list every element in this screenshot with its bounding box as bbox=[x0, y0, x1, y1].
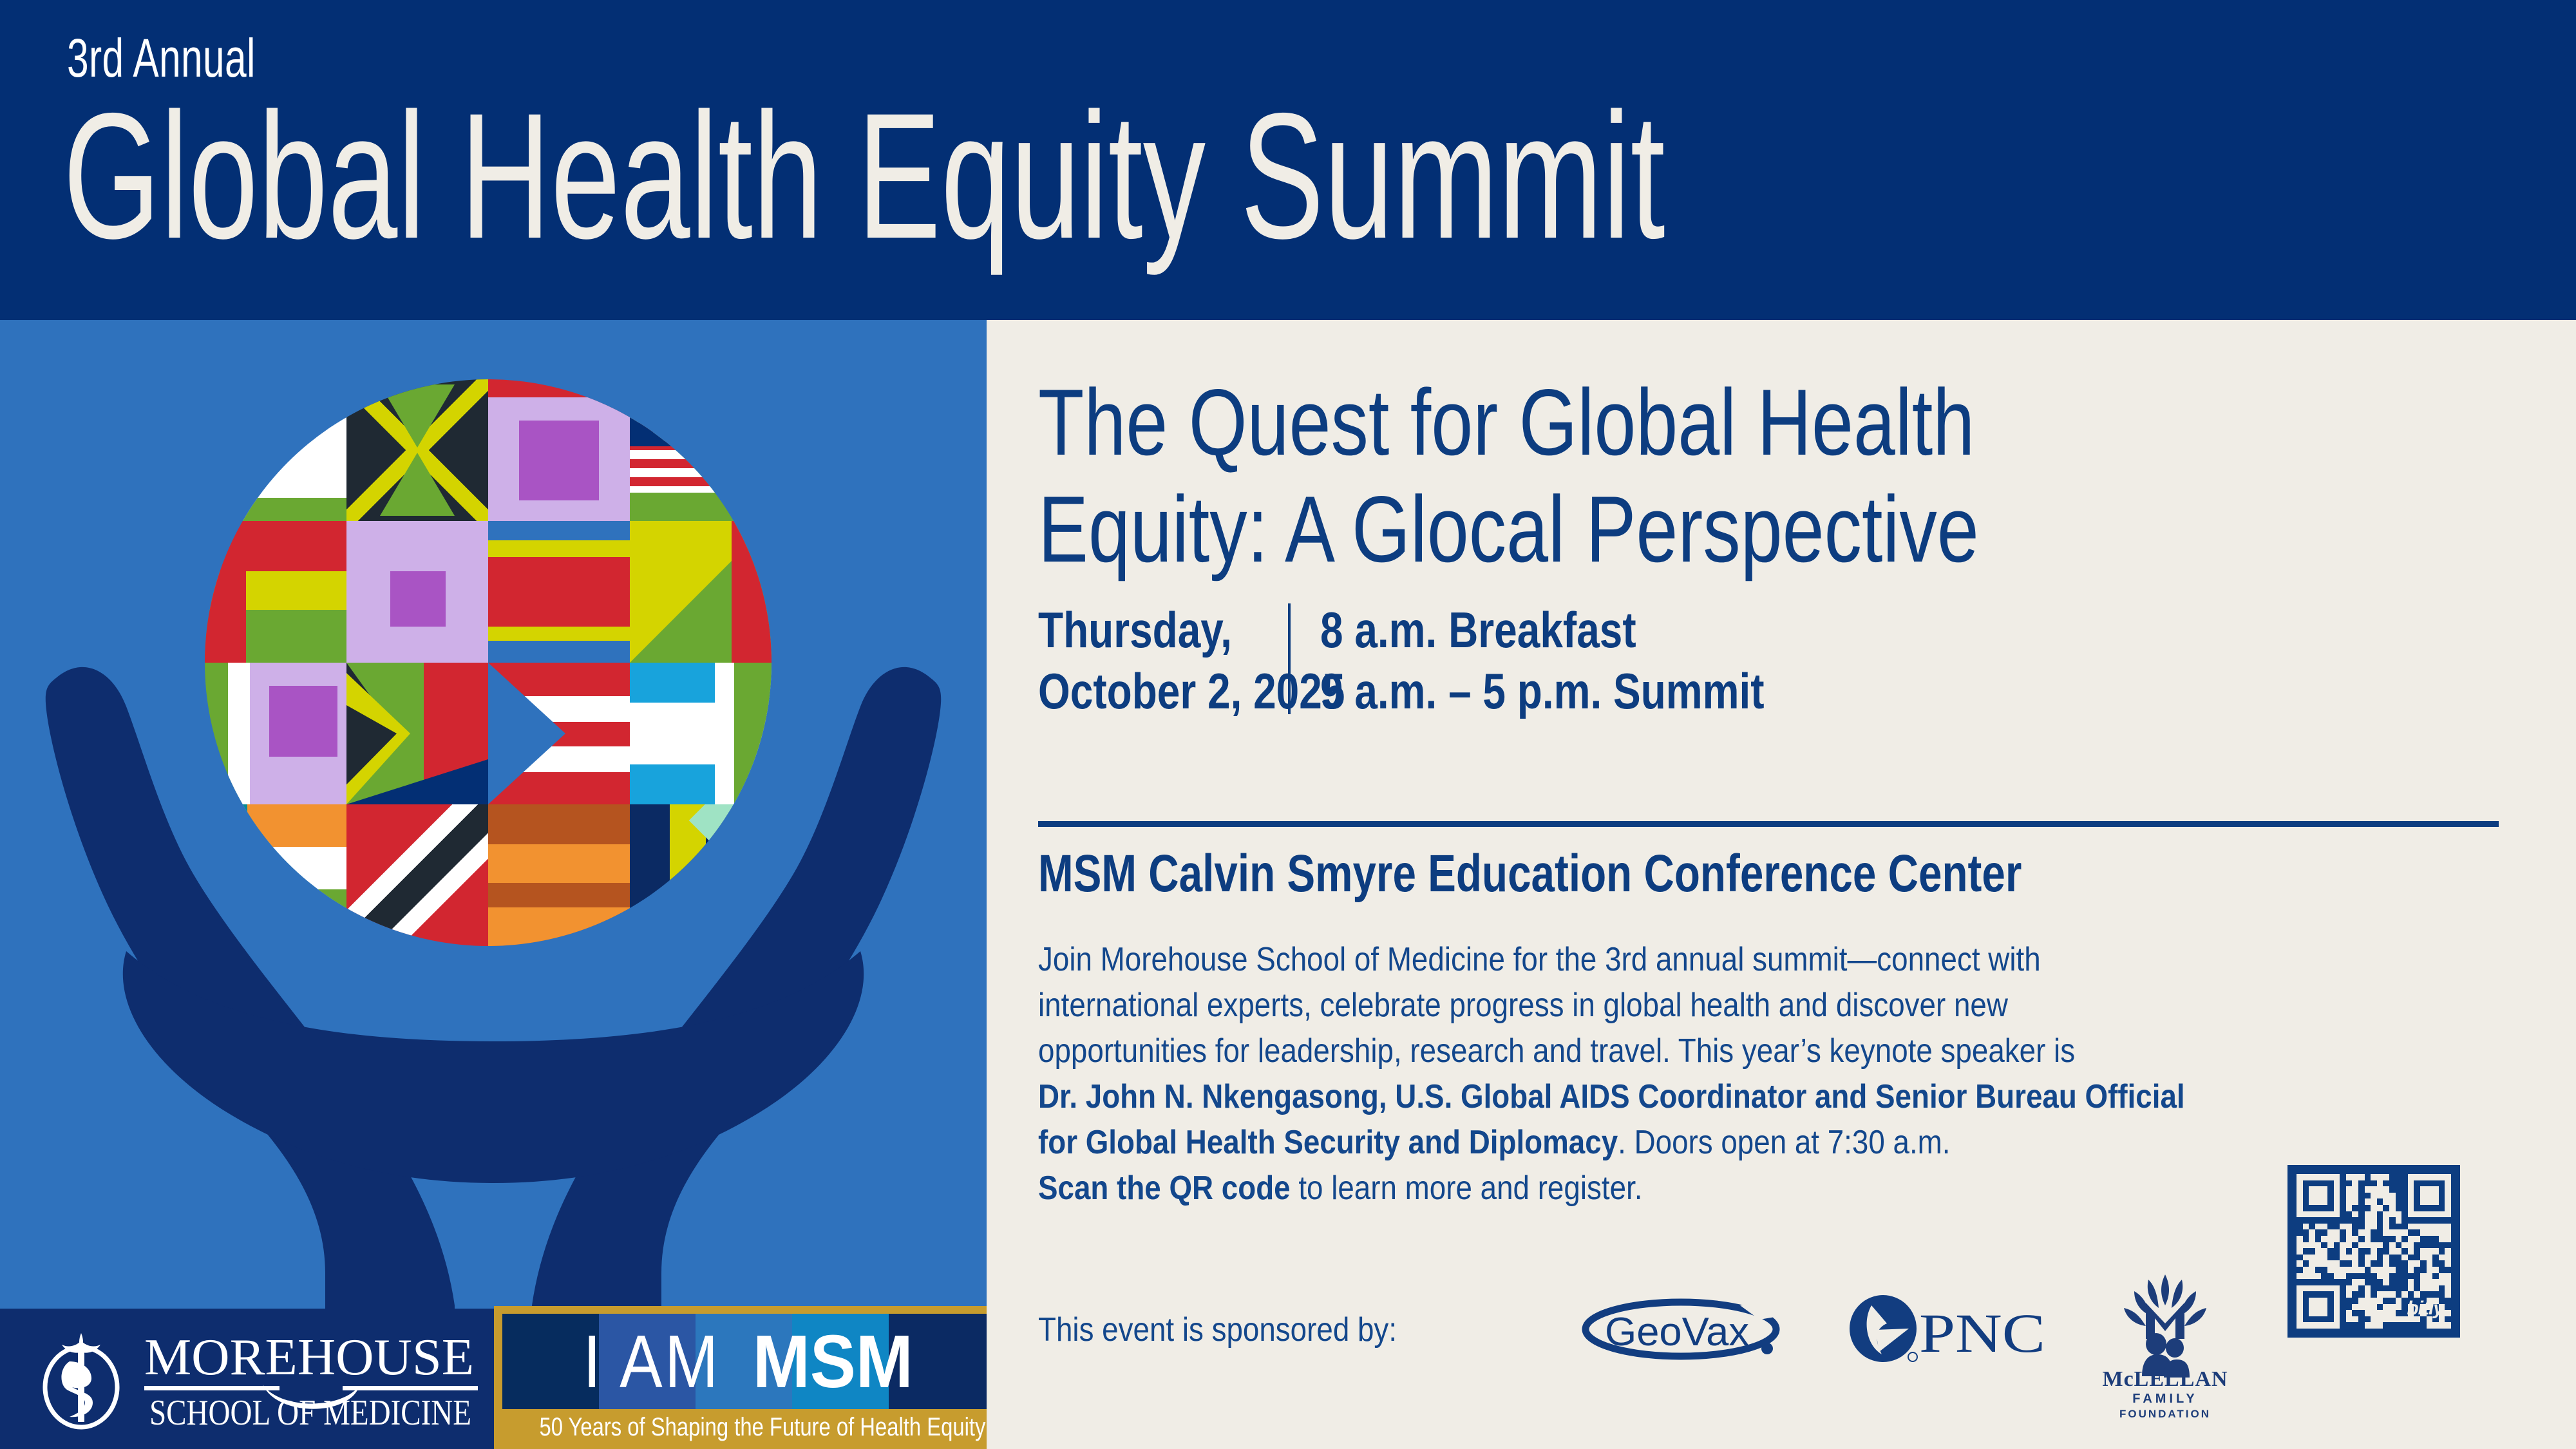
qr-module bbox=[2315, 1217, 2322, 1224]
qr-module bbox=[2365, 1211, 2371, 1218]
qr-module bbox=[2321, 1255, 2327, 1261]
qr-module bbox=[2334, 1217, 2340, 1224]
qr-module bbox=[2309, 1205, 2315, 1211]
morehouse-line2: SCHOOL OF MEDICINE bbox=[149, 1393, 471, 1431]
body-line-3: opportunities for leadership, research a… bbox=[1038, 1028, 2273, 1074]
qr-module bbox=[2396, 1193, 2402, 1199]
qr-module bbox=[2327, 1255, 2334, 1261]
qr-module bbox=[2297, 1236, 2303, 1242]
pnc-wordmark: PNC bbox=[1919, 1302, 2045, 1364]
morehouse-wordmark: MOREHOUSE SCHOOL OF MEDICINE bbox=[143, 1327, 478, 1431]
main-title-line1: The Quest for Global Health bbox=[1038, 370, 1975, 475]
qr-module bbox=[2346, 1255, 2353, 1261]
qr-module bbox=[2352, 1255, 2358, 1261]
qr-module bbox=[2383, 1205, 2389, 1211]
keynote-title: for Global Health Security and Diplomacy bbox=[1038, 1124, 1618, 1161]
qr-module bbox=[2408, 1255, 2414, 1261]
qr-module bbox=[2346, 1236, 2353, 1242]
qr-module bbox=[2401, 1198, 2408, 1205]
qr-module bbox=[2383, 1193, 2389, 1199]
qr-module bbox=[2389, 1236, 2396, 1242]
description-body: Join Morehouse School of Medicine for th… bbox=[1038, 937, 2442, 1211]
qr-module bbox=[2297, 1248, 2303, 1255]
qr-module bbox=[2340, 1260, 2346, 1267]
qr-module bbox=[2432, 1174, 2439, 1180]
flag-tile bbox=[630, 379, 772, 521]
date-line2: October 2, 2025 bbox=[1038, 661, 1286, 722]
qr-module bbox=[2315, 1242, 2322, 1249]
qr-module bbox=[2432, 1224, 2439, 1230]
flag-tile bbox=[346, 379, 488, 521]
qr-module bbox=[2321, 1260, 2327, 1267]
vertical-divider bbox=[1288, 603, 1291, 714]
qr-module bbox=[2340, 1224, 2346, 1230]
morehouse-logo: MOREHOUSE SCHOOL OF MEDICINE bbox=[0, 1309, 494, 1449]
qr-module bbox=[2401, 1242, 2408, 1249]
qr-module bbox=[2327, 1248, 2334, 1255]
qr-module bbox=[2340, 1211, 2346, 1218]
qr-module bbox=[2352, 1198, 2358, 1205]
qr-module bbox=[2334, 1211, 2340, 1218]
qr-module bbox=[2334, 1248, 2340, 1255]
qr-module bbox=[2401, 1255, 2408, 1261]
qr-module bbox=[2383, 1224, 2389, 1230]
qr-module bbox=[2383, 1174, 2389, 1180]
qr-module bbox=[2401, 1186, 2408, 1193]
qr-module bbox=[2340, 1236, 2346, 1242]
qr-module bbox=[2377, 1211, 2383, 1218]
qr-module bbox=[2432, 1229, 2439, 1236]
qr-module bbox=[2383, 1260, 2389, 1267]
qr-module bbox=[2309, 1224, 2315, 1230]
qr-module bbox=[2315, 1180, 2322, 1187]
mclellan-line1: McLELLAN bbox=[2101, 1368, 2230, 1390]
qr-module bbox=[2389, 1193, 2396, 1199]
qr-module bbox=[2327, 1180, 2334, 1187]
qr-module bbox=[2352, 1242, 2358, 1249]
qr-module bbox=[2346, 1186, 2353, 1193]
qr-module bbox=[2365, 1260, 2371, 1267]
qr-module bbox=[2340, 1205, 2346, 1211]
qr-module bbox=[2383, 1229, 2389, 1236]
body-line-1: Join Morehouse School of Medicine for th… bbox=[1038, 937, 2273, 983]
qr-module bbox=[2346, 1205, 2353, 1211]
qr-module bbox=[2432, 1198, 2439, 1205]
qr-module bbox=[2420, 1260, 2427, 1267]
qr-module bbox=[2352, 1248, 2358, 1255]
qr-module bbox=[2315, 1248, 2322, 1255]
qr-module bbox=[2365, 1255, 2371, 1261]
qr-module bbox=[2396, 1198, 2402, 1205]
qr-module bbox=[2309, 1174, 2315, 1180]
qr-module bbox=[2371, 1242, 2377, 1249]
qr-module bbox=[2389, 1260, 2396, 1267]
artwork-panel bbox=[0, 320, 987, 1449]
qr-module bbox=[2432, 1236, 2439, 1242]
qr-module bbox=[2383, 1242, 2389, 1249]
body-line-5: for Global Health Security and Diplomacy… bbox=[1038, 1120, 2273, 1166]
qr-module bbox=[2346, 1198, 2353, 1205]
qr-module bbox=[2365, 1229, 2371, 1236]
qr-module bbox=[2389, 1186, 2396, 1193]
flag-tile bbox=[630, 804, 772, 946]
qr-module bbox=[2371, 1193, 2377, 1199]
qr-module bbox=[2334, 1255, 2340, 1261]
qr-module bbox=[2439, 1174, 2445, 1180]
content-panel: The Quest for Global Health Equity: A Gl… bbox=[987, 320, 2576, 1449]
qr-module bbox=[2396, 1217, 2402, 1224]
qr-module bbox=[2439, 1248, 2445, 1255]
qr-module bbox=[2358, 1236, 2365, 1242]
qr-module bbox=[2389, 1248, 2396, 1255]
qr-module bbox=[2365, 1224, 2371, 1230]
qr-module bbox=[2432, 1193, 2439, 1199]
qr-module bbox=[2315, 1224, 2322, 1230]
qr-module bbox=[2358, 1211, 2365, 1218]
qr-module bbox=[2309, 1180, 2315, 1187]
qr-module bbox=[2389, 1198, 2396, 1205]
qr-module bbox=[2383, 1211, 2389, 1218]
qr-module bbox=[2401, 1260, 2408, 1267]
time-line2: 9 a.m. – 5 p.m. Summit bbox=[1320, 661, 1765, 722]
qr-module bbox=[2309, 1186, 2315, 1193]
qr-module bbox=[2414, 1217, 2420, 1224]
qr-module bbox=[2358, 1242, 2365, 1249]
qr-module bbox=[2439, 1193, 2445, 1199]
qr-module bbox=[2327, 1260, 2334, 1267]
qr-module bbox=[2371, 1236, 2377, 1242]
qr-module bbox=[2297, 1180, 2303, 1187]
geovax-logo: GeoVax bbox=[1579, 1294, 1785, 1365]
qr-module bbox=[2420, 1229, 2427, 1236]
qr-module bbox=[2445, 1193, 2451, 1199]
qr-module bbox=[2396, 1260, 2402, 1267]
qr-module bbox=[2303, 1260, 2309, 1267]
qr-module bbox=[2401, 1174, 2408, 1180]
iam-bold: MSM bbox=[753, 1324, 913, 1399]
qr-module bbox=[2432, 1186, 2439, 1193]
flag-tile bbox=[205, 663, 346, 804]
qr-module bbox=[2377, 1224, 2383, 1230]
qr-module bbox=[2420, 1186, 2427, 1193]
qr-module bbox=[2303, 1242, 2309, 1249]
qr-module bbox=[2365, 1198, 2371, 1205]
qr-module bbox=[2303, 1205, 2309, 1211]
qr-module bbox=[2321, 1224, 2327, 1230]
qr-module bbox=[2358, 1255, 2365, 1261]
flag-globe bbox=[205, 379, 772, 946]
qr-module bbox=[2432, 1180, 2439, 1187]
qr-module bbox=[2383, 1255, 2389, 1261]
qr-module bbox=[2371, 1260, 2377, 1267]
qr-module bbox=[2303, 1236, 2309, 1242]
qr-module bbox=[2327, 1242, 2334, 1249]
qr-module bbox=[2439, 1229, 2445, 1236]
qr-module bbox=[2346, 1260, 2353, 1267]
qr-module bbox=[2414, 1193, 2420, 1199]
qr-module bbox=[2377, 1236, 2383, 1242]
qr-module bbox=[2340, 1180, 2346, 1187]
qr-module bbox=[2377, 1255, 2383, 1261]
qr-module bbox=[2315, 1255, 2322, 1261]
qr-module bbox=[2365, 1248, 2371, 1255]
keynote-name: Dr. John N. Nkengasong, U.S. Global AIDS… bbox=[1038, 1078, 2185, 1115]
qr-module bbox=[2327, 1224, 2334, 1230]
qr-module bbox=[2315, 1236, 2322, 1242]
qr-module bbox=[2309, 1193, 2315, 1199]
qr-module bbox=[2309, 1211, 2315, 1218]
qr-module bbox=[2414, 1242, 2420, 1249]
qr-module bbox=[2439, 1224, 2445, 1230]
qr-module bbox=[2408, 1180, 2414, 1187]
qr-module bbox=[2371, 1174, 2377, 1180]
flag-tile bbox=[205, 521, 346, 663]
qr-module bbox=[2346, 1193, 2353, 1199]
qr-module bbox=[2371, 1186, 2377, 1193]
qr-module bbox=[2346, 1224, 2353, 1230]
qr-module bbox=[2396, 1224, 2402, 1230]
qr-module bbox=[2346, 1242, 2353, 1249]
time-line1: 8 a.m. Breakfast bbox=[1320, 600, 1765, 661]
qr-module bbox=[2371, 1205, 2377, 1211]
iam-tagline: 50 Years of Shaping the Future of Health… bbox=[539, 1413, 952, 1441]
qr-module bbox=[2321, 1174, 2327, 1180]
iam-msm-logo: I AM MSM 50 Years of Shaping the Future … bbox=[494, 1306, 998, 1449]
qr-module bbox=[2427, 1180, 2433, 1187]
caduceus-icon bbox=[30, 1328, 133, 1430]
qr-module bbox=[2401, 1211, 2408, 1218]
qr-module bbox=[2334, 1236, 2340, 1242]
event-times: 8 a.m. Breakfast 9 a.m. – 5 p.m. Summit bbox=[1320, 600, 1765, 722]
qr-module bbox=[2352, 1217, 2358, 1224]
qr-module bbox=[2401, 1236, 2408, 1242]
qr-module bbox=[2432, 1242, 2439, 1249]
qr-module bbox=[2297, 1193, 2303, 1199]
qr-module bbox=[2365, 1205, 2371, 1211]
venue-name: MSM Calvin Smyre Education Conference Ce… bbox=[1038, 843, 2022, 905]
horizontal-rule bbox=[1038, 821, 2499, 827]
qr-module bbox=[2303, 1211, 2309, 1218]
qr-module bbox=[2309, 1248, 2315, 1255]
qr-module bbox=[2389, 1229, 2396, 1236]
qr-module bbox=[2427, 1248, 2433, 1255]
qr-module bbox=[2420, 1224, 2427, 1230]
qr-module bbox=[2358, 1248, 2365, 1255]
flag-tile bbox=[630, 663, 772, 804]
qr-module bbox=[2401, 1193, 2408, 1199]
body-line-6: Scan the QR code to learn more and regis… bbox=[1038, 1166, 2273, 1211]
qr-module bbox=[2396, 1242, 2402, 1249]
qr-module bbox=[2346, 1180, 2353, 1187]
qr-module bbox=[2371, 1180, 2377, 1187]
main-title: The Quest for Global Health Equity: A Gl… bbox=[1038, 369, 2244, 583]
qr-module bbox=[2414, 1205, 2420, 1211]
qr-module bbox=[2377, 1248, 2383, 1255]
sponsors-label: This event is sponsored by: bbox=[1038, 1311, 1397, 1349]
qr-module bbox=[2297, 1255, 2303, 1261]
qr-module bbox=[2365, 1236, 2371, 1242]
qr-module bbox=[2297, 1198, 2303, 1205]
qr-module bbox=[2321, 1242, 2327, 1249]
qr-module bbox=[2327, 1217, 2334, 1224]
qr-module bbox=[2420, 1248, 2427, 1255]
qr-module bbox=[2389, 1242, 2396, 1249]
qr-module bbox=[2340, 1242, 2346, 1249]
qr-module bbox=[2346, 1211, 2353, 1218]
qr-module bbox=[2445, 1205, 2451, 1211]
qr-module bbox=[2377, 1198, 2383, 1205]
qr-module bbox=[2414, 1174, 2420, 1180]
qr-module bbox=[2389, 1224, 2396, 1230]
qr-module bbox=[2297, 1229, 2303, 1236]
qr-module bbox=[2303, 1186, 2309, 1193]
qr-module bbox=[2420, 1217, 2427, 1224]
qr-module bbox=[2408, 1174, 2414, 1180]
qr-module bbox=[2321, 1211, 2327, 1218]
qr-module bbox=[2408, 1211, 2414, 1218]
qr-module bbox=[2309, 1260, 2315, 1267]
qr-module bbox=[2408, 1260, 2414, 1267]
qr-module bbox=[2365, 1186, 2371, 1193]
qr-module bbox=[2414, 1248, 2420, 1255]
qr-module bbox=[2309, 1242, 2315, 1249]
qr-module bbox=[2358, 1186, 2365, 1193]
qr-module bbox=[2327, 1236, 2334, 1242]
qr-module bbox=[2439, 1186, 2445, 1193]
qr-module bbox=[2408, 1217, 2414, 1224]
qr-module bbox=[2445, 1186, 2451, 1193]
qr-module bbox=[2371, 1248, 2377, 1255]
qr-module bbox=[2396, 1229, 2402, 1236]
qr-module bbox=[2401, 1217, 2408, 1224]
qr-module bbox=[2352, 1236, 2358, 1242]
qr-module bbox=[2401, 1224, 2408, 1230]
qr-module bbox=[2432, 1260, 2439, 1267]
qr-module bbox=[2432, 1217, 2439, 1224]
qr-module bbox=[2396, 1205, 2402, 1211]
qr-module bbox=[2346, 1248, 2353, 1255]
qr-module bbox=[2340, 1229, 2346, 1236]
flag-tile bbox=[346, 804, 488, 946]
qr-module bbox=[2432, 1205, 2439, 1211]
qr-module bbox=[2321, 1229, 2327, 1236]
qr-module bbox=[2327, 1174, 2334, 1180]
iam-thin: I AM bbox=[583, 1324, 721, 1399]
qr-module bbox=[2346, 1217, 2353, 1224]
qr-module bbox=[2340, 1174, 2346, 1180]
date-line1: Thursday, bbox=[1038, 600, 1286, 661]
qr-module bbox=[2414, 1255, 2420, 1261]
qr-module bbox=[2445, 1242, 2451, 1249]
qr-module bbox=[2414, 1236, 2420, 1242]
scan-qr-label: Scan the QR code bbox=[1038, 1170, 1291, 1207]
qr-module bbox=[2334, 1180, 2340, 1187]
pnc-logo: PNC bbox=[1850, 1293, 2049, 1365]
qr-module bbox=[2358, 1224, 2365, 1230]
qr-module bbox=[2445, 1224, 2451, 1230]
qr-module bbox=[2445, 1174, 2451, 1180]
qr-module bbox=[2371, 1229, 2377, 1236]
qr-module bbox=[2352, 1193, 2358, 1199]
qr-module bbox=[2352, 1174, 2358, 1180]
qr-module bbox=[2439, 1242, 2445, 1249]
qr-module bbox=[2389, 1205, 2396, 1211]
qr-module bbox=[2315, 1198, 2322, 1205]
qr-module bbox=[2327, 1193, 2334, 1199]
qr-module bbox=[2303, 1255, 2309, 1261]
register-text: to learn more and register. bbox=[1291, 1170, 1643, 1207]
qr-module bbox=[2297, 1224, 2303, 1230]
qr-module bbox=[2383, 1248, 2389, 1255]
qr-module bbox=[2377, 1229, 2383, 1236]
qr-module bbox=[2377, 1205, 2383, 1211]
qr-module bbox=[2408, 1248, 2414, 1255]
flag-tile bbox=[630, 521, 772, 663]
qr-module bbox=[2321, 1198, 2327, 1205]
qr-module bbox=[2321, 1180, 2327, 1187]
qr-module bbox=[2303, 1193, 2309, 1199]
qr-module bbox=[2334, 1242, 2340, 1249]
qr-module bbox=[2371, 1211, 2377, 1218]
qr-module bbox=[2365, 1242, 2371, 1249]
qr-module bbox=[2408, 1242, 2414, 1249]
qr-module bbox=[2383, 1198, 2389, 1205]
mclellan-line2: FAMILY bbox=[2101, 1390, 2230, 1407]
qr-module bbox=[2427, 1205, 2433, 1211]
qr-module bbox=[2414, 1260, 2420, 1267]
qr-module bbox=[2365, 1180, 2371, 1187]
qr-module bbox=[2408, 1205, 2414, 1211]
qr-module bbox=[2327, 1198, 2334, 1205]
qr-module bbox=[2383, 1236, 2389, 1242]
doors-open: . Doors open at 7:30 a.m. bbox=[1618, 1124, 1950, 1161]
qr-module bbox=[2321, 1248, 2327, 1255]
qr-module bbox=[2445, 1248, 2451, 1255]
qr-module bbox=[2358, 1217, 2365, 1224]
qr-module bbox=[2334, 1174, 2340, 1180]
flag-tile bbox=[488, 521, 630, 663]
qr-module bbox=[2297, 1205, 2303, 1211]
qr-module bbox=[2427, 1193, 2433, 1199]
qr-module bbox=[2432, 1255, 2439, 1261]
qr-module bbox=[2445, 1198, 2451, 1205]
qr-module bbox=[2396, 1174, 2402, 1180]
qr-module bbox=[2327, 1186, 2334, 1193]
qr-module bbox=[2396, 1248, 2402, 1255]
qr-module bbox=[2439, 1198, 2445, 1205]
flag-tile bbox=[205, 804, 346, 946]
qr-module bbox=[2439, 1255, 2445, 1261]
date-time-row: Thursday, October 2, 2025 8 a.m. Breakfa… bbox=[1038, 600, 2532, 722]
flag-tile bbox=[488, 663, 630, 804]
qr-module bbox=[2365, 1174, 2371, 1180]
qr-module bbox=[2315, 1205, 2322, 1211]
qr-module bbox=[2297, 1260, 2303, 1267]
qr-module bbox=[2303, 1198, 2309, 1205]
qr-module bbox=[2389, 1217, 2396, 1224]
qr-module bbox=[2427, 1255, 2433, 1261]
qr-module bbox=[2439, 1205, 2445, 1211]
qr-module bbox=[2309, 1198, 2315, 1205]
qr-module bbox=[2396, 1255, 2402, 1261]
qr-module bbox=[2371, 1217, 2377, 1224]
qr-module bbox=[2408, 1236, 2414, 1242]
body-line-2: international experts, celebrate progres… bbox=[1038, 983, 2273, 1028]
qr-module bbox=[2427, 1224, 2433, 1230]
qr-module bbox=[2297, 1186, 2303, 1193]
qr-module bbox=[2408, 1198, 2414, 1205]
qr-module bbox=[2427, 1186, 2433, 1193]
